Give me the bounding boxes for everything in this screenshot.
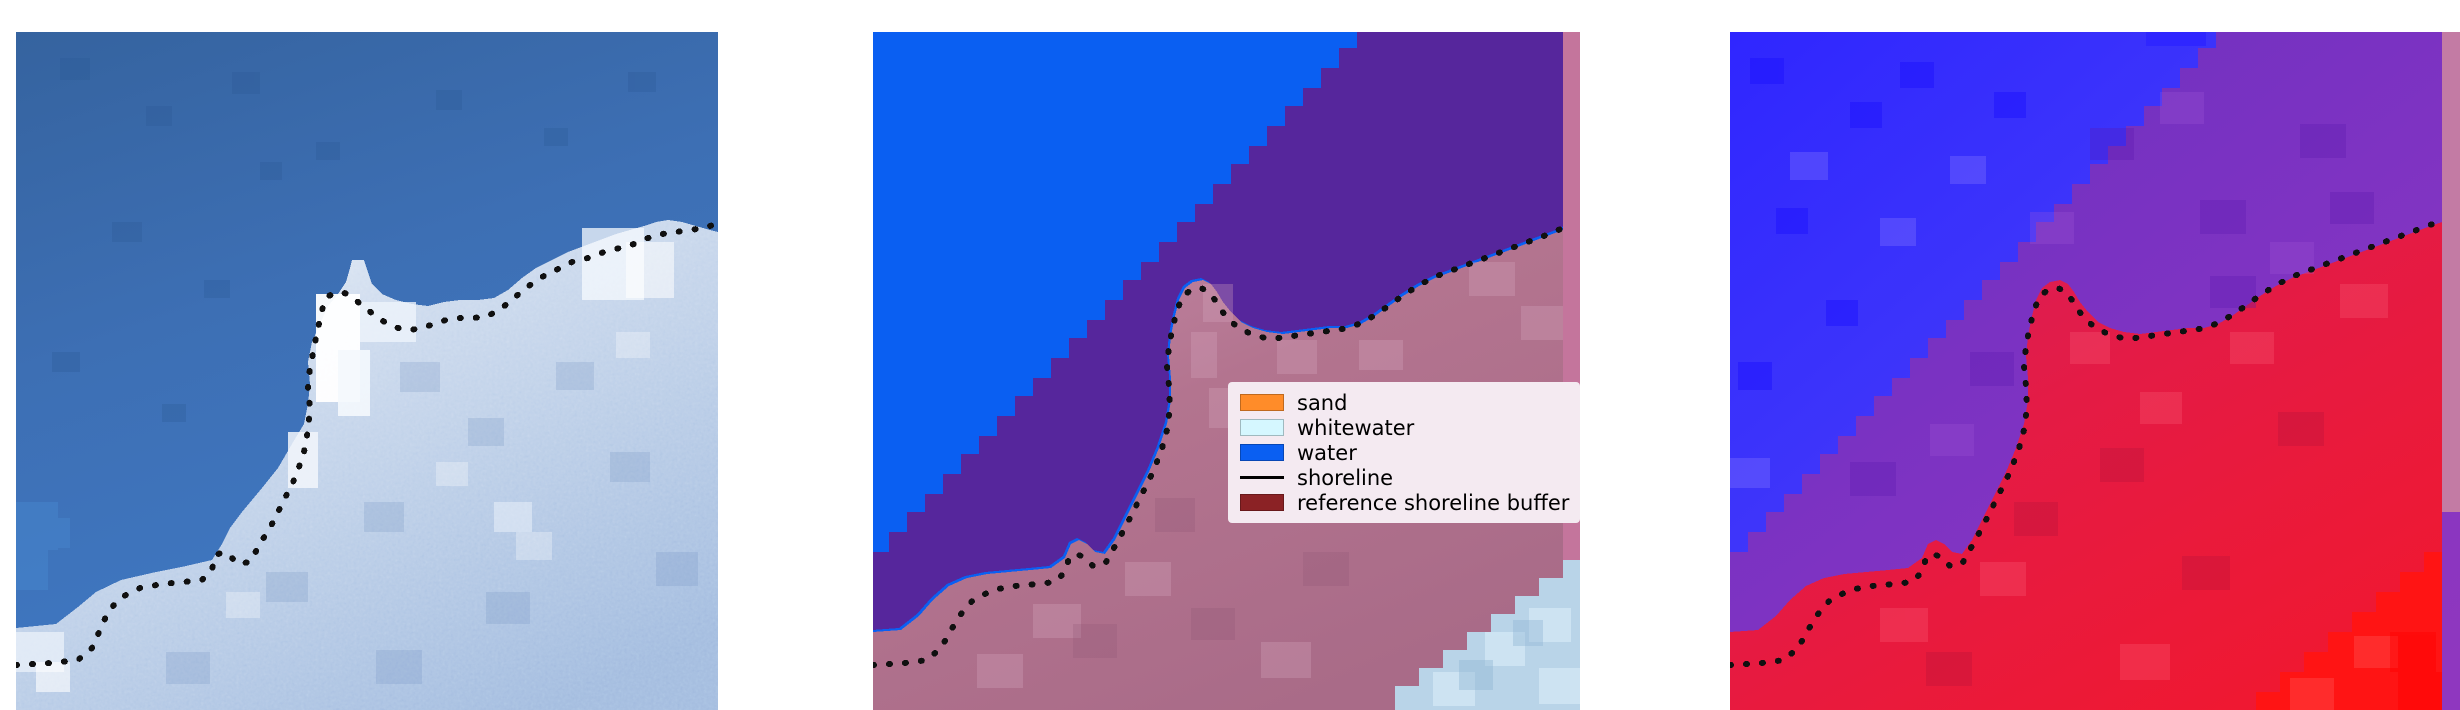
legend-item-water: water [1240, 440, 1570, 465]
panel-sar-image [16, 32, 718, 710]
legend-swatch-sand [1240, 394, 1284, 411]
panel-classified: 2001-04-04-09-49-36 [873, 32, 1580, 710]
panel-l7: L7 [1730, 32, 2460, 710]
legend-item-whitewater: whitewater [1240, 415, 1570, 440]
panel-l7-image [1730, 32, 2460, 710]
legend-swatch-water [1240, 444, 1284, 461]
legend-label-shoreline: shoreline [1297, 467, 1393, 489]
legend-swatch-reference-shoreline-buffer [1240, 494, 1284, 511]
legend-item-shoreline: shoreline [1240, 465, 1570, 490]
legend: sand whitewater water shoreline referenc… [1228, 382, 1580, 523]
legend-label-sand: sand [1297, 392, 1347, 414]
legend-swatch-shoreline [1240, 476, 1284, 479]
legend-swatch-whitewater [1240, 419, 1284, 436]
figure-canvas: sar1835 [0, 0, 2460, 710]
legend-item-reference-shoreline-buffer: reference shoreline buffer [1240, 490, 1570, 515]
legend-item-sand: sand [1240, 390, 1570, 415]
legend-label-water: water [1297, 442, 1357, 464]
legend-label-reference-shoreline-buffer: reference shoreline buffer [1297, 492, 1569, 514]
panel-classified-image [873, 32, 1580, 710]
legend-label-whitewater: whitewater [1297, 417, 1414, 439]
panel-sar: sar1835 [16, 32, 718, 710]
